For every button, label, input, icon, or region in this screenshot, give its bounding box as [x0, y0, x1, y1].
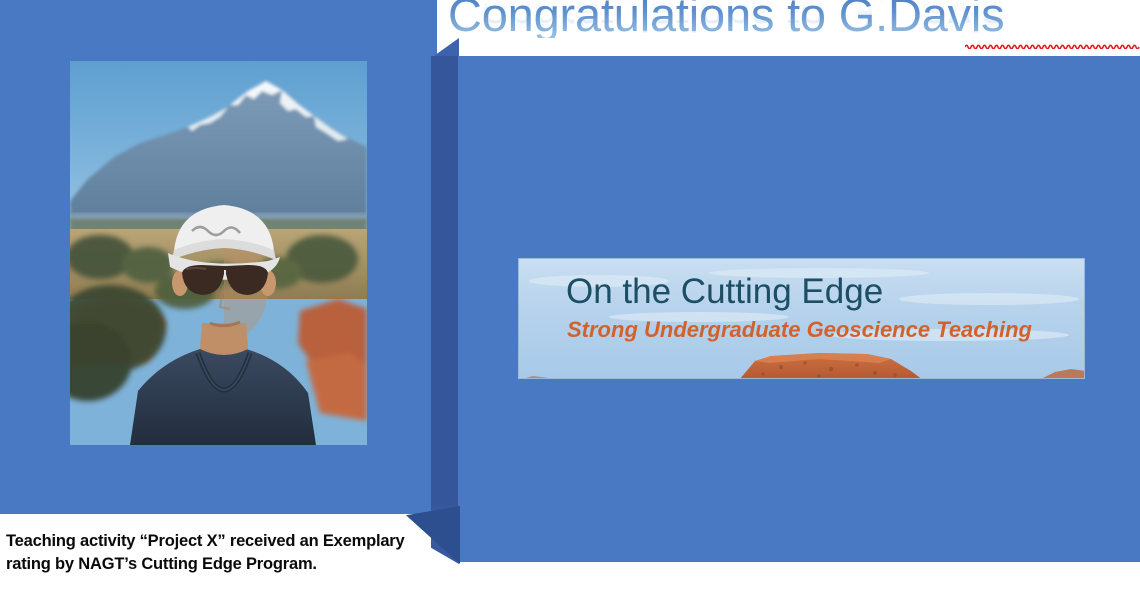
portrait-photo: [70, 61, 367, 445]
title-prefix: Congratulations to: [448, 0, 839, 41]
cutting-edge-banner: On the Cutting Edge Strong Undergraduate…: [518, 258, 1085, 379]
banner-subtitle: Strong Undergraduate Geoscience Teaching: [567, 317, 1032, 343]
portrait-photo-graphic: [70, 61, 367, 445]
slide-caption: Teaching activity “Project X” received a…: [6, 530, 426, 576]
banner-title: On the Cutting Edge: [566, 272, 883, 312]
page-title: Congratulations to G.Davis: [448, 0, 1140, 38]
callout-bevel-strip: [431, 56, 459, 514]
person-torso: [130, 349, 316, 445]
slide-canvas: Congratulations to G.Davis Congratulatio…: [0, 0, 1140, 614]
title-misspelled-word: G.Davis: [839, 0, 1005, 38]
